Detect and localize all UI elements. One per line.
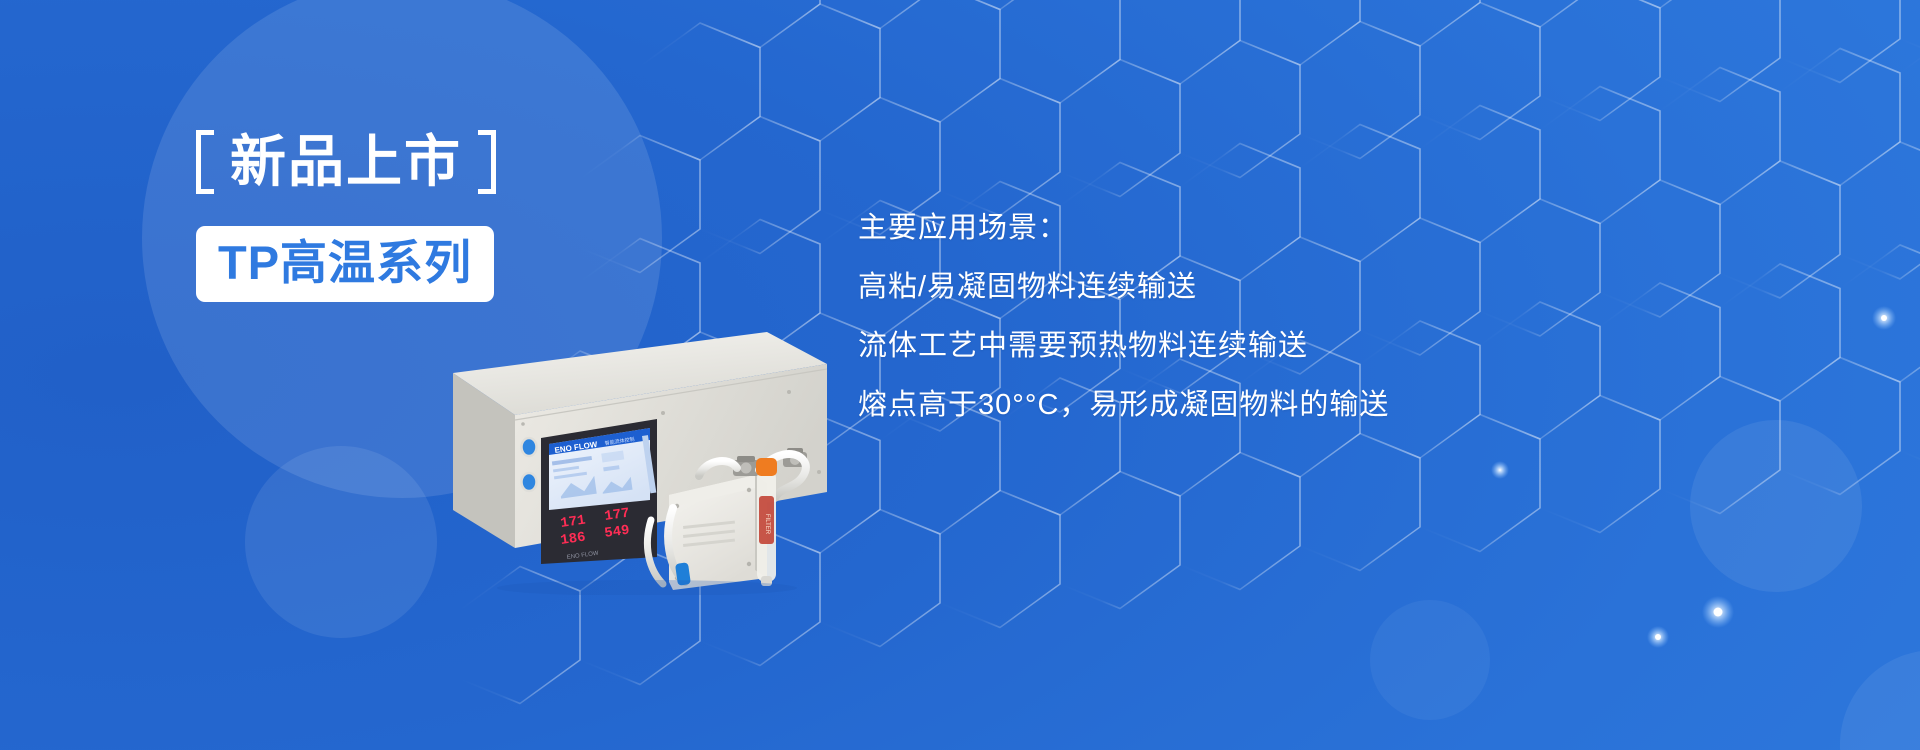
decorative-circle-right-2 bbox=[1840, 650, 1920, 750]
pattern-node-glow bbox=[1491, 306, 1896, 648]
decorative-circle-right-1 bbox=[1690, 420, 1862, 592]
product-series-badge[interactable]: TP高温系列 bbox=[196, 226, 494, 302]
panel-button-upper bbox=[522, 438, 537, 456]
decorative-circle-right-3 bbox=[1370, 600, 1490, 720]
scenario-line-1: 高粘/易凝固物料连续输送 bbox=[858, 273, 1389, 302]
scenario-line-2: 流体工艺中需要预热物料连续输送 bbox=[858, 332, 1389, 361]
scenarios-heading: 主要应用场景： bbox=[858, 214, 1389, 243]
headline-block: 新品上市 TP高温系列 bbox=[196, 130, 666, 302]
promo-banner: ENO FLOW 智能流体控制 171 177 186 549 bbox=[0, 0, 1920, 750]
cartridge-cap bbox=[756, 458, 777, 476]
panel-button-lower bbox=[522, 473, 537, 491]
cartridge: FILTER bbox=[756, 458, 777, 586]
svg-text:FILTER: FILTER bbox=[764, 514, 770, 535]
application-scenarios-block: 主要应用场景： 高粘/易凝固物料连续输送 流体工艺中需要预热物料连续输送 熔点高… bbox=[858, 214, 1389, 420]
bracket-left-icon bbox=[196, 130, 216, 194]
decorative-circle-small bbox=[245, 446, 437, 638]
bracket-right-icon bbox=[476, 130, 496, 194]
kicker-text: 新品上市 bbox=[230, 134, 462, 190]
scenario-line-3: 熔点高于30°°C，易形成凝固物料的输送 bbox=[858, 391, 1389, 420]
kicker-row: 新品上市 bbox=[196, 130, 666, 194]
product-image: ENO FLOW 智能流体控制 171 177 186 549 bbox=[437, 320, 837, 595]
